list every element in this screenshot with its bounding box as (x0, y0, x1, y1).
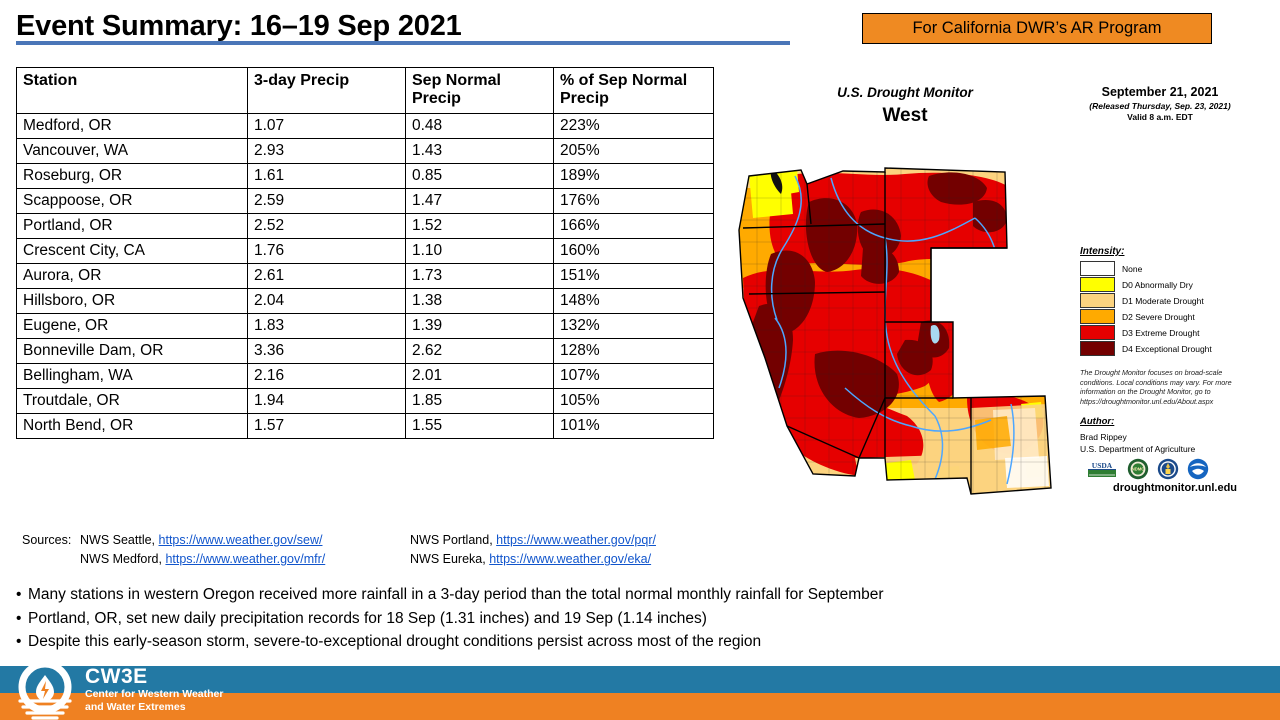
unl-logo-icon (1157, 458, 1179, 480)
sources-label: Sources: (22, 531, 80, 550)
agency-logo-row: USDA NDMC (1085, 458, 1265, 480)
cell-sep-normal-precip: 1.39 (406, 314, 554, 339)
source-link-seattle[interactable]: https://www.weather.gov/sew/ (159, 533, 323, 547)
legend-label: None (1122, 264, 1142, 274)
cell-sep-normal-precip: 1.38 (406, 289, 554, 314)
cell-pct-of-normal: 176% (554, 189, 714, 214)
dwr-program-banner: For California DWR’s AR Program (862, 13, 1212, 44)
table-row: Aurora, OR2.611.73151% (17, 264, 714, 289)
sources-block: Sources: NWS Seattle, https://www.weathe… (22, 531, 722, 570)
cell-sep-normal-precip: 1.52 (406, 214, 554, 239)
cell-station: Roseburg, OR (17, 164, 248, 189)
legend-label: D0 Abnormally Dry (1122, 280, 1193, 290)
cell-3day-precip: 2.93 (248, 139, 406, 164)
legend-item: None (1080, 261, 1270, 276)
column-header-3day-precip: 3-day Precip (248, 68, 406, 114)
source-office-eureka: NWS Eureka, (410, 552, 486, 566)
sources-row: Sources: NWS Seattle, https://www.weathe… (22, 531, 722, 550)
source-office-seattle: NWS Seattle, (80, 533, 155, 547)
bullet-dot-icon: • (16, 607, 28, 631)
column-header-sep-normal-precip: Sep Normal Precip (406, 68, 554, 114)
drought-monitor-date: September 21, 2021 (1055, 85, 1265, 99)
source-entry-portland: NWS Portland, https://www.weather.gov/pq… (410, 531, 722, 550)
bullet-text: Despite this early-season storm, severe-… (28, 633, 761, 650)
cell-pct-of-normal: 148% (554, 289, 714, 314)
sources-row: NWS Medford, https://www.weather.gov/mfr… (22, 550, 722, 569)
cell-pct-of-normal: 189% (554, 164, 714, 189)
cell-3day-precip: 1.83 (248, 314, 406, 339)
legend-label: D1 Moderate Drought (1122, 296, 1204, 306)
drought-monitor-released: (Released Thursday, Sep. 23, 2021) (1055, 101, 1265, 111)
list-item: •Many stations in western Oregon receive… (16, 583, 1266, 607)
page-title: Event Summary: 16–19 Sep 2021 (16, 10, 462, 43)
cell-3day-precip: 2.59 (248, 189, 406, 214)
cell-sep-normal-precip: 1.73 (406, 264, 554, 289)
cell-station: Scappoose, OR (17, 189, 248, 214)
cell-sep-normal-precip: 1.47 (406, 189, 554, 214)
cell-pct-of-normal: 105% (554, 389, 714, 414)
cell-sep-normal-precip: 1.10 (406, 239, 554, 264)
cell-pct-of-normal: 205% (554, 139, 714, 164)
us-drought-monitor-panel: U.S. Drought Monitor West September 21, … (735, 80, 1265, 530)
table-row: Portland, OR2.521.52166% (17, 214, 714, 239)
legend-rows: NoneD0 Abnormally DryD1 Moderate Drought… (1080, 261, 1270, 356)
cell-3day-precip: 1.07 (248, 114, 406, 139)
sources-label-spacer (22, 550, 80, 569)
cell-pct-of-normal: 101% (554, 414, 714, 439)
cell-pct-of-normal: 166% (554, 214, 714, 239)
drought-monitor-note: The Drought Monitor focuses on broad-sca… (1080, 368, 1255, 407)
legend-title: Intensity: (1080, 246, 1270, 257)
legend-swatch (1080, 261, 1115, 276)
legend-swatch (1080, 277, 1115, 292)
usda-logo-icon: USDA (1085, 459, 1119, 479)
cell-station: Bellingham, WA (17, 364, 248, 389)
drought-monitor-map (735, 158, 1065, 518)
cell-3day-precip: 2.04 (248, 289, 406, 314)
column-header-station: Station (17, 68, 248, 114)
table-row: Troutdale, OR1.941.85105% (17, 389, 714, 414)
cell-pct-of-normal: 223% (554, 114, 714, 139)
table-row: Eugene, OR1.831.39132% (17, 314, 714, 339)
cell-station: Bonneville Dam, OR (17, 339, 248, 364)
cell-station: Medford, OR (17, 114, 248, 139)
cell-station: Aurora, OR (17, 264, 248, 289)
svg-text:USDA: USDA (1092, 461, 1113, 470)
summary-bullet-list: •Many stations in western Oregon receive… (16, 583, 1266, 654)
legend-label: D2 Severe Drought (1122, 312, 1195, 322)
source-link-medford[interactable]: https://www.weather.gov/mfr/ (165, 552, 325, 566)
legend-label: D4 Exceptional Drought (1122, 344, 1212, 354)
table-row: Scappoose, OR2.591.47176% (17, 189, 714, 214)
cell-sep-normal-precip: 0.48 (406, 114, 554, 139)
legend-item: D4 Exceptional Drought (1080, 341, 1270, 356)
author-name: Brad Rippey (1080, 432, 1127, 442)
cw3e-logo-icon (14, 661, 76, 720)
cell-3day-precip: 1.61 (248, 164, 406, 189)
drought-monitor-valid: Valid 8 a.m. EDT (1055, 112, 1265, 122)
cell-sep-normal-precip: 0.85 (406, 164, 554, 189)
cw3e-subtitle-line1: Center for Western Weather (85, 688, 223, 700)
author-label: Author: (1080, 416, 1114, 427)
table-row: North Bend, OR1.571.55101% (17, 414, 714, 439)
drought-intensity-legend: Intensity: NoneD0 Abnormally DryD1 Moder… (1080, 246, 1270, 357)
legend-item: D1 Moderate Drought (1080, 293, 1270, 308)
table-row: Vancouver, WA2.931.43205% (17, 139, 714, 164)
bullet-dot-icon: • (16, 630, 28, 654)
cell-station: Troutdale, OR (17, 389, 248, 414)
cell-station: Eugene, OR (17, 314, 248, 339)
cell-sep-normal-precip: 1.85 (406, 389, 554, 414)
source-office-medford: NWS Medford, (80, 552, 162, 566)
bullet-text: Portland, OR, set new daily precipitatio… (28, 610, 707, 627)
source-office-portland: NWS Portland, (410, 533, 493, 547)
cell-pct-of-normal: 132% (554, 314, 714, 339)
table-row: Roseburg, OR1.610.85189% (17, 164, 714, 189)
cell-sep-normal-precip: 1.55 (406, 414, 554, 439)
list-item: •Despite this early-season storm, severe… (16, 630, 1266, 654)
source-link-portland[interactable]: https://www.weather.gov/pqr/ (496, 533, 656, 547)
legend-label: D3 Extreme Drought (1122, 328, 1199, 338)
legend-item: D0 Abnormally Dry (1080, 277, 1270, 292)
source-entry-eureka: NWS Eureka, https://www.weather.gov/eka/ (410, 550, 722, 569)
author-organization: U.S. Department of Agriculture (1080, 444, 1195, 454)
precipitation-summary-table: Station 3-day Precip Sep Normal Precip %… (16, 67, 714, 439)
cw3e-subtitle-line2: and Water Extremes (85, 701, 186, 713)
cell-station: Crescent City, CA (17, 239, 248, 264)
cell-3day-precip: 1.94 (248, 389, 406, 414)
legend-item: D3 Extreme Drought (1080, 325, 1270, 340)
table-row: Bellingham, WA2.162.01107% (17, 364, 714, 389)
drought-monitor-title: U.S. Drought Monitor (790, 85, 1020, 100)
cell-3day-precip: 2.52 (248, 214, 406, 239)
table-row: Hillsboro, OR2.041.38148% (17, 289, 714, 314)
cell-3day-precip: 2.61 (248, 264, 406, 289)
table-row: Medford, OR1.070.48223% (17, 114, 714, 139)
cell-station: Hillsboro, OR (17, 289, 248, 314)
cell-pct-of-normal: 107% (554, 364, 714, 389)
cell-sep-normal-precip: 1.43 (406, 139, 554, 164)
cell-station: North Bend, OR (17, 414, 248, 439)
source-entry-seattle: NWS Seattle, https://www.weather.gov/sew… (80, 531, 410, 550)
cell-3day-precip: 2.16 (248, 364, 406, 389)
table-row: Crescent City, CA1.761.10160% (17, 239, 714, 264)
cell-3day-precip: 1.76 (248, 239, 406, 264)
legend-swatch (1080, 309, 1115, 324)
cell-sep-normal-precip: 2.01 (406, 364, 554, 389)
cell-pct-of-normal: 151% (554, 264, 714, 289)
cell-pct-of-normal: 160% (554, 239, 714, 264)
source-entry-medford: NWS Medford, https://www.weather.gov/mfr… (80, 550, 410, 569)
source-link-eureka[interactable]: https://www.weather.gov/eka/ (489, 552, 651, 566)
cell-3day-precip: 1.57 (248, 414, 406, 439)
bullet-text: Many stations in western Oregon received… (28, 586, 884, 603)
drought-monitor-region: West (790, 105, 1020, 127)
table-header-row: Station 3-day Precip Sep Normal Precip %… (17, 68, 714, 114)
bullet-dot-icon: • (16, 583, 28, 607)
cell-3day-precip: 3.36 (248, 339, 406, 364)
legend-swatch (1080, 341, 1115, 356)
cell-sep-normal-precip: 2.62 (406, 339, 554, 364)
noaa-logo-icon (1187, 458, 1209, 480)
table-body: Medford, OR1.070.48223%Vancouver, WA2.93… (17, 114, 714, 439)
cell-station: Portland, OR (17, 214, 248, 239)
column-header-pct-of-normal: % of Sep Normal Precip (554, 68, 714, 114)
cell-pct-of-normal: 128% (554, 339, 714, 364)
list-item: •Portland, OR, set new daily precipitati… (16, 607, 1266, 631)
title-underline-rule (16, 41, 790, 45)
legend-swatch (1080, 325, 1115, 340)
legend-swatch (1080, 293, 1115, 308)
cell-station: Vancouver, WA (17, 139, 248, 164)
svg-text:NDMC: NDMC (1132, 467, 1145, 472)
table-row: Bonneville Dam, OR3.362.62128% (17, 339, 714, 364)
legend-item: D2 Severe Drought (1080, 309, 1270, 324)
droughtmonitor-url: droughtmonitor.unl.edu (1080, 482, 1270, 494)
cw3e-acronym: CW3E (85, 665, 148, 689)
ndmc-logo-icon: NDMC (1127, 458, 1149, 480)
